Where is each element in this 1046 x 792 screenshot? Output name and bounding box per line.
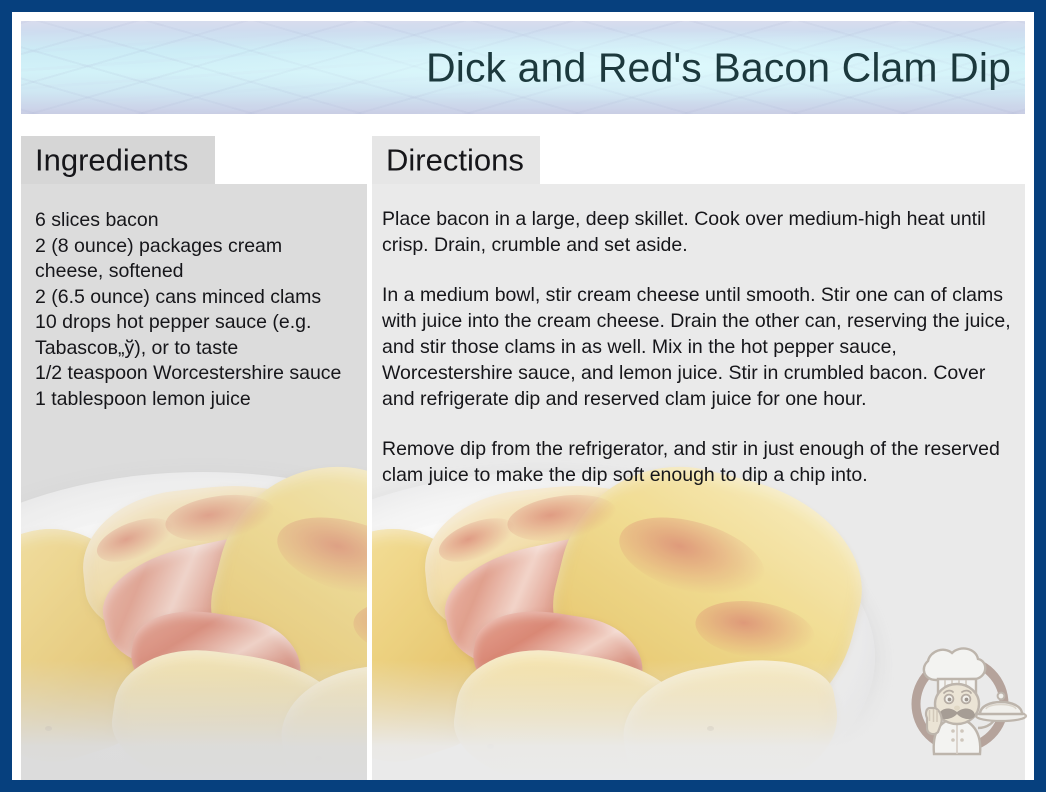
ingredient-item: 2 (8 ounce) packages cream cheese, softe… bbox=[35, 234, 353, 285]
bacon-strip bbox=[125, 601, 308, 722]
bacon-strip bbox=[467, 601, 650, 722]
toast-piece bbox=[447, 639, 694, 780]
ingredients-panel: Ingredients 6 slices bacon 2 (8 ounce) p… bbox=[21, 136, 367, 780]
toast-piece bbox=[531, 441, 883, 756]
ingredients-list: 6 slices bacon 2 (8 ounce) packages crea… bbox=[21, 184, 367, 412]
direction-paragraph: Remove dip from the refrigerator, and st… bbox=[382, 436, 1011, 488]
ingredient-item: 1/2 teaspoon Worcestershire sauce bbox=[35, 361, 353, 387]
crumb bbox=[315, 756, 322, 761]
direction-paragraph: Place bacon in a large, deep skillet. Co… bbox=[382, 206, 1011, 258]
toast-blotch bbox=[162, 489, 277, 548]
ingredients-header: Ingredients bbox=[21, 136, 367, 184]
ingredients-heading: Ingredients bbox=[35, 145, 188, 176]
bacon-strip bbox=[435, 523, 670, 683]
toast-piece bbox=[418, 475, 682, 650]
plate-rim-shape bbox=[21, 512, 367, 780]
ingredient-item: 6 slices bacon bbox=[35, 208, 353, 234]
plate-shape bbox=[372, 472, 875, 780]
header-notch bbox=[215, 136, 367, 184]
crumb bbox=[707, 726, 714, 731]
directions-header: Directions bbox=[372, 136, 1025, 184]
directions-text: Place bacon in a large, deep skillet. Co… bbox=[372, 184, 1025, 488]
ingredient-item: 10 drops hot pepper sauce (e.g. Tabascoв… bbox=[35, 310, 353, 361]
toast-piece bbox=[272, 646, 367, 780]
column-gutter bbox=[367, 136, 372, 780]
direction-paragraph: In a medium bowl, stir cream cheese unti… bbox=[382, 282, 1011, 412]
toast-piece bbox=[21, 506, 178, 780]
food-photo-left bbox=[21, 426, 367, 780]
toast-blotch bbox=[504, 489, 619, 548]
ingredient-item: 1 tablespoon lemon juice bbox=[35, 387, 353, 413]
plate-rim-shape bbox=[372, 512, 818, 780]
toast-piece bbox=[105, 639, 352, 780]
title-banner: Dick and Red's Bacon Clam Dip bbox=[21, 21, 1025, 114]
toast-piece bbox=[189, 441, 367, 756]
toast-blotch bbox=[692, 594, 819, 666]
toast-piece bbox=[614, 646, 847, 780]
header-notch bbox=[540, 136, 1025, 184]
ingredient-item: 2 (6.5 ounce) cans minced clams bbox=[35, 285, 353, 311]
toast-piece bbox=[76, 475, 340, 650]
toast-blotch bbox=[610, 503, 773, 612]
bacon-strip bbox=[93, 523, 328, 683]
directions-heading: Directions bbox=[386, 145, 524, 176]
crumb bbox=[45, 726, 52, 731]
toast-blotch bbox=[433, 509, 520, 570]
toast-blotch bbox=[350, 594, 367, 666]
card-canvas: Dick and Red's Bacon Clam Dip bbox=[12, 12, 1034, 780]
chef-logo bbox=[900, 636, 1028, 764]
plate-shape bbox=[21, 472, 367, 780]
photo-fade-left bbox=[21, 660, 367, 780]
toast-piece bbox=[372, 506, 520, 780]
toast-blotch bbox=[91, 509, 178, 570]
recipe-title: Dick and Red's Bacon Clam Dip bbox=[426, 47, 1011, 88]
toast-blotch bbox=[268, 503, 367, 612]
crumb bbox=[487, 744, 494, 749]
recipe-card: Dick and Red's Bacon Clam Dip bbox=[0, 0, 1046, 792]
